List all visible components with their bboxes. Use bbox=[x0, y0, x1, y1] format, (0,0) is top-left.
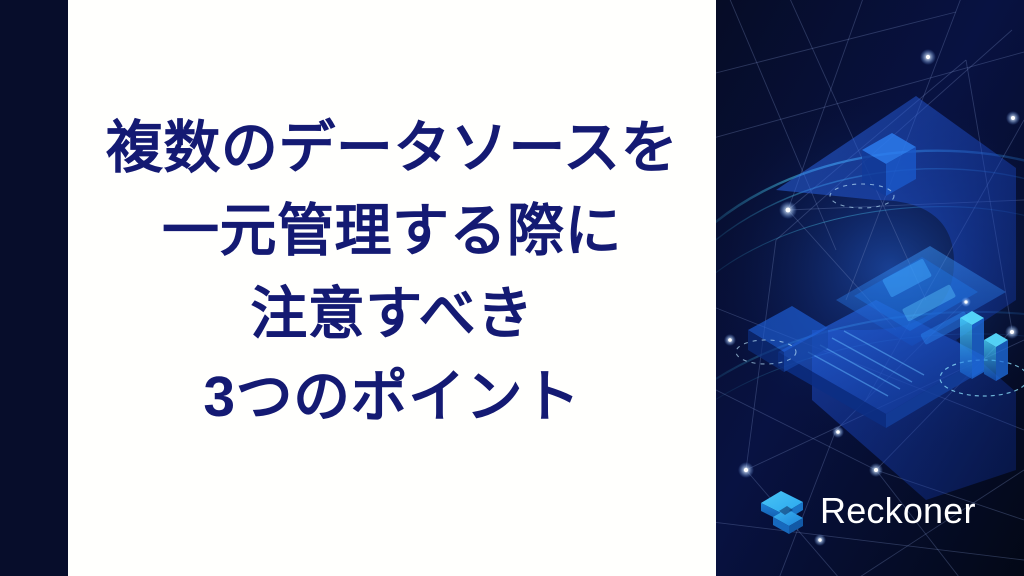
brand-wordmark: Reckoner bbox=[820, 493, 976, 529]
title-line-3: 注意すべき bbox=[68, 273, 716, 356]
title-line-2: 一元管理する際に bbox=[68, 190, 716, 273]
reckoner-cube-logo-icon bbox=[757, 486, 807, 536]
brand-logo-lockup[interactable]: Reckoner bbox=[757, 486, 976, 536]
title-line-1: 複数のデータソースを bbox=[68, 107, 716, 190]
slide-canvas: 複数のデータソースを 一元管理する際に 注意すべき 3つのポイント bbox=[0, 0, 1024, 576]
title-line-4: 3つのポイント bbox=[68, 356, 716, 439]
page-title: 複数のデータソースを 一元管理する際に 注意すべき 3つのポイント bbox=[68, 107, 716, 469]
left-accent-bar bbox=[0, 0, 68, 576]
title-area: 複数のデータソースを 一元管理する際に 注意すべき 3つのポイント bbox=[68, 0, 716, 576]
